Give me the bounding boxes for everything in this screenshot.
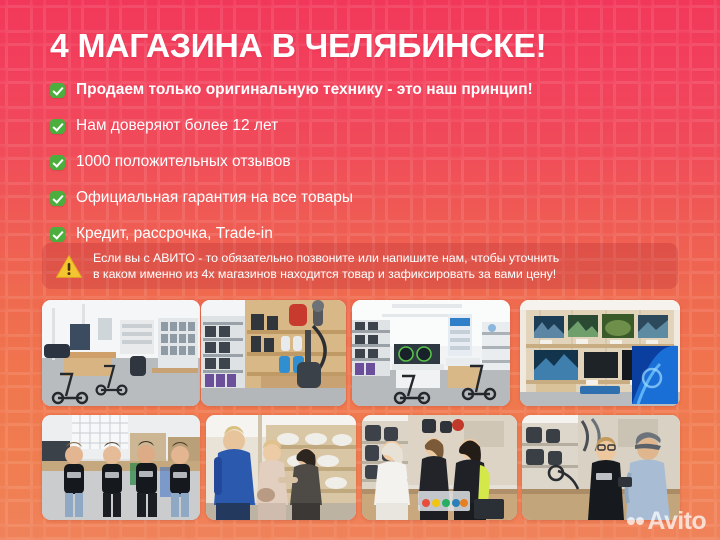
banner-content: 4 МАГАЗИНА В ЧЕЛЯБИНСКЕ! Продаем только …: [0, 0, 720, 540]
photo-thumbnail[interactable]: [352, 300, 510, 406]
photo-thumbnail[interactable]: [42, 300, 200, 406]
photo-thumbnail[interactable]: [42, 415, 200, 520]
photo-thumbnail[interactable]: [201, 300, 346, 406]
photo-grid: [0, 0, 720, 540]
photo-thumbnail[interactable]: [206, 415, 356, 520]
promo-banner: 4 МАГАЗИНА В ЧЕЛЯБИНСКЕ! Продаем только …: [0, 0, 720, 540]
photo-thumbnail[interactable]: [520, 300, 680, 406]
photo-thumbnail[interactable]: [362, 415, 517, 520]
photo-thumbnail[interactable]: [522, 415, 680, 520]
